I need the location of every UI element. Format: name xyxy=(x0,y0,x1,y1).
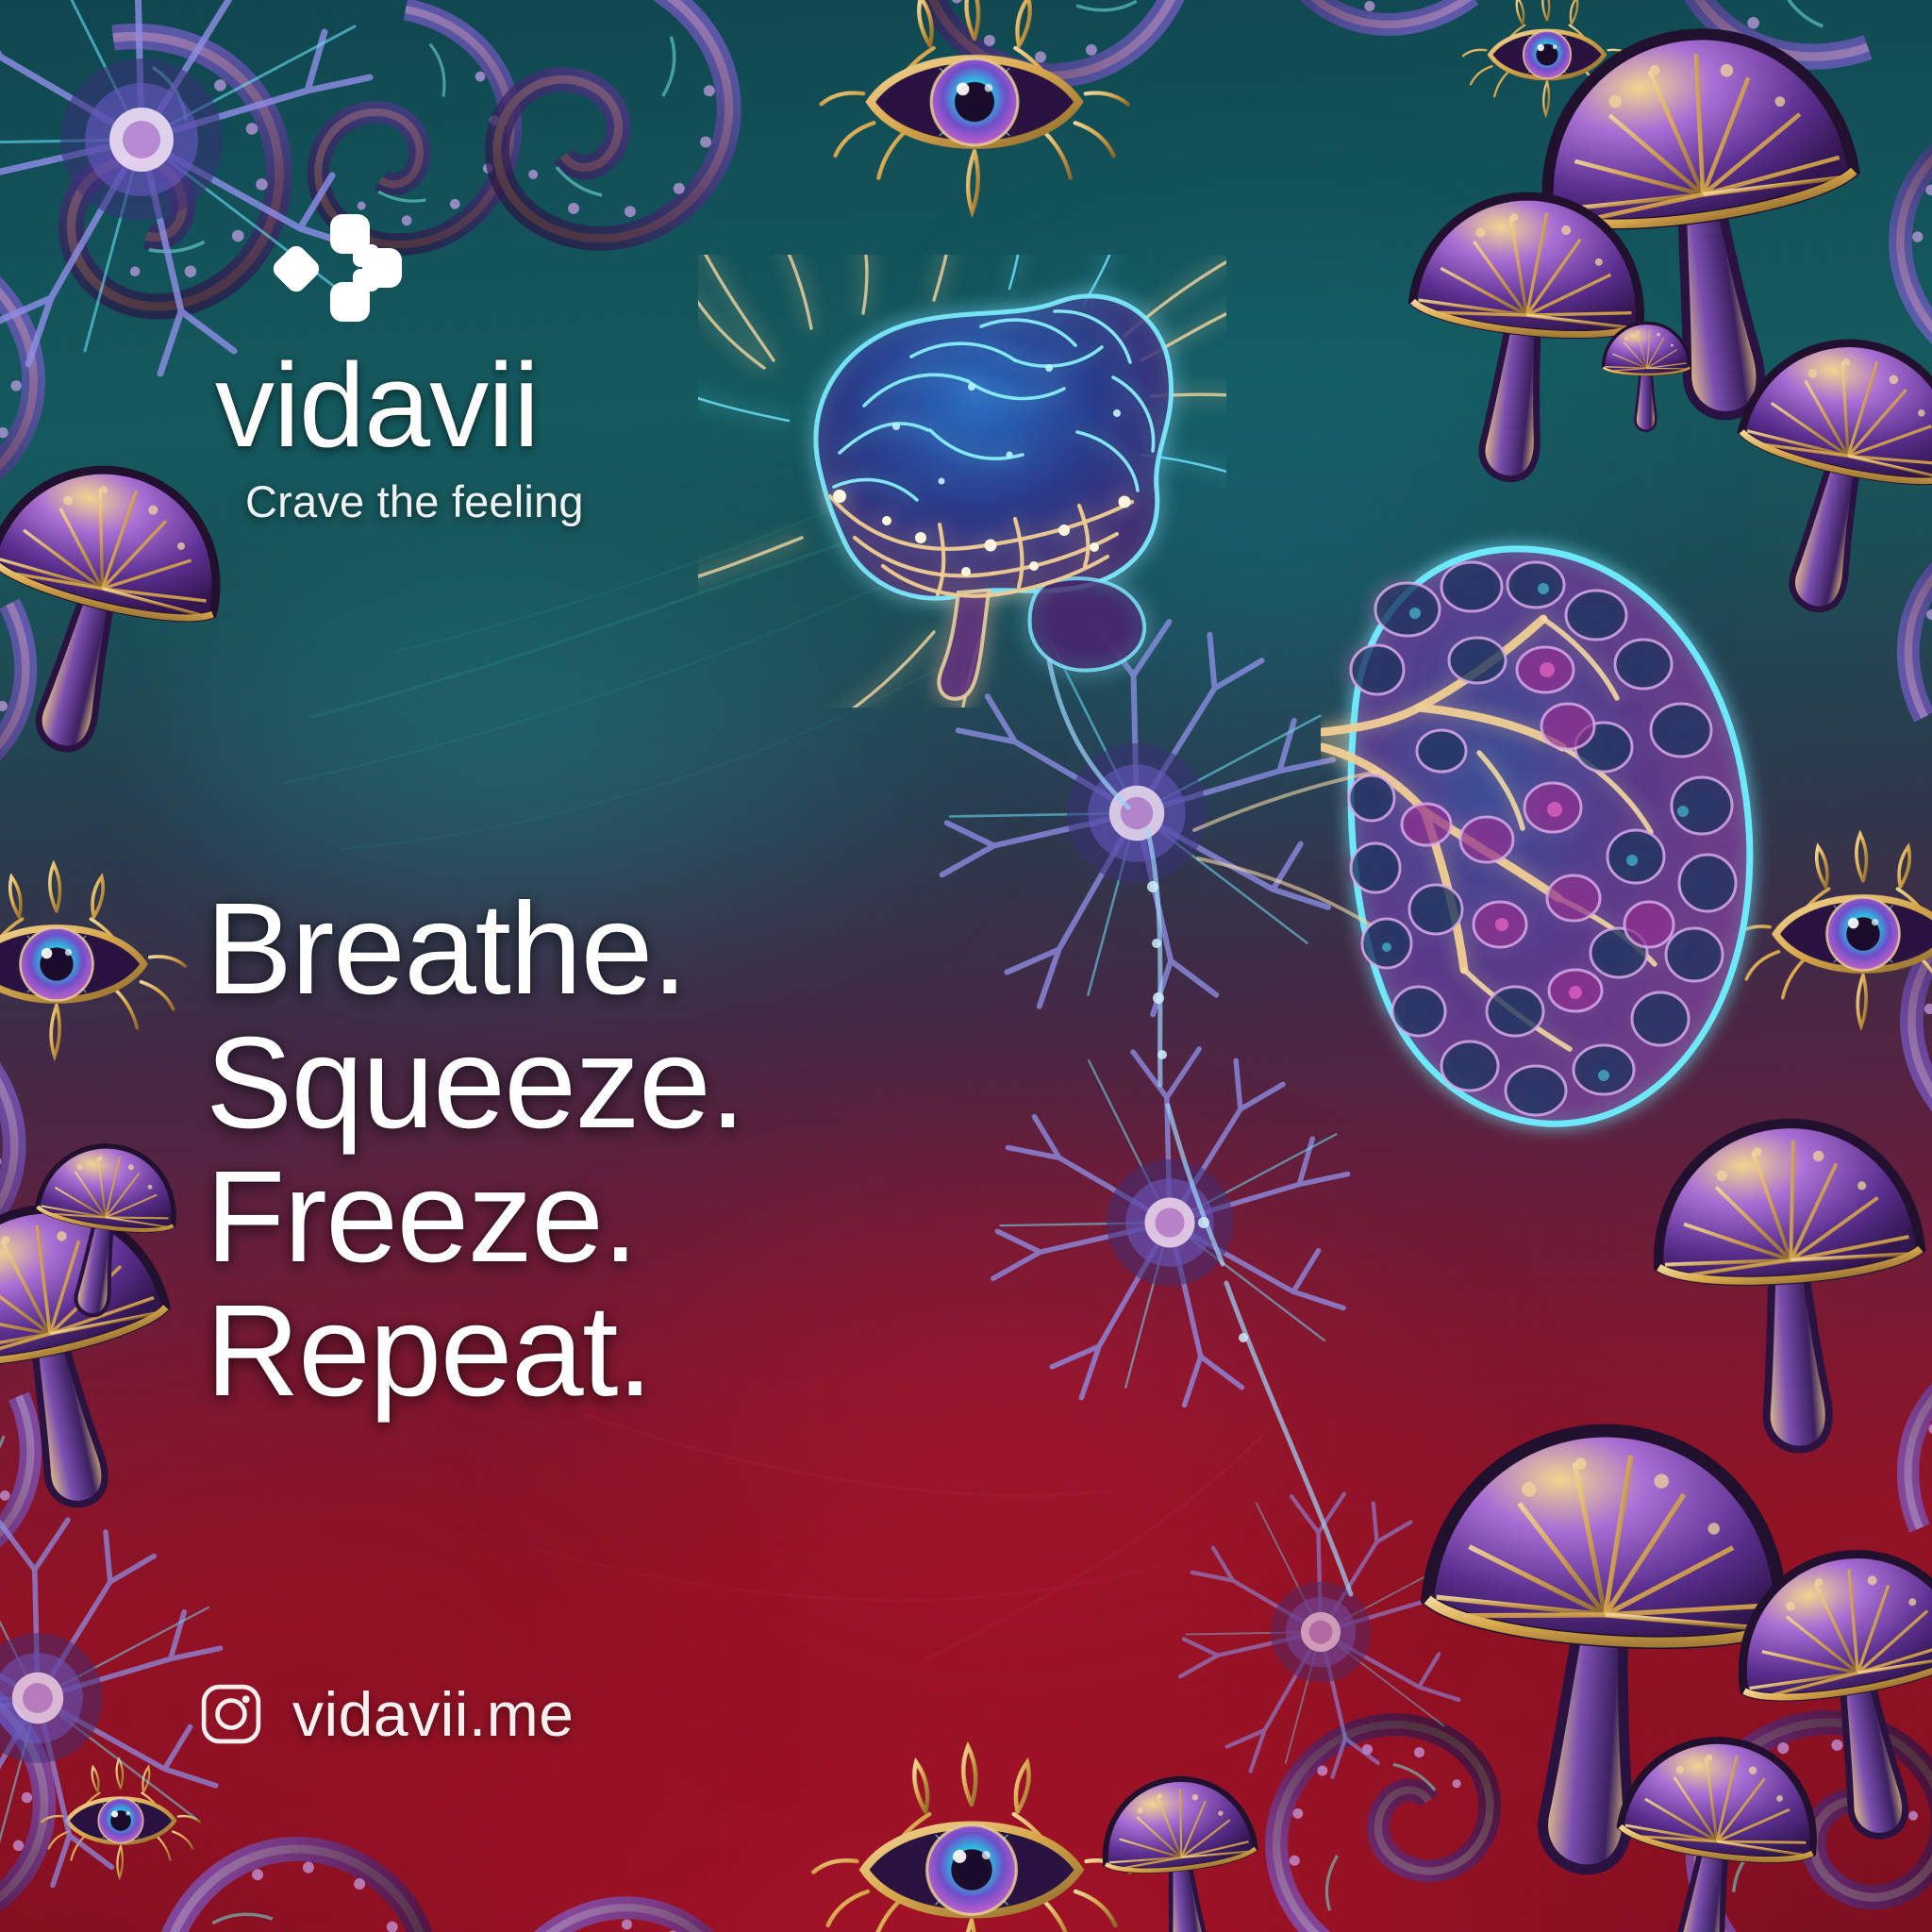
poster-canvas: vidavii Crave the feeling Breathe. Squee… xyxy=(0,0,1932,1932)
headline-line-4: Repeat. xyxy=(206,1284,744,1418)
headline-line-2: Squeeze. xyxy=(206,1016,744,1150)
headline-block: Breathe. Squeeze. Freeze. Repeat. xyxy=(206,882,744,1419)
brand-tagline: Crave the feeling xyxy=(245,475,781,527)
brand-lockup: vidavii Crave the feeling xyxy=(215,212,781,527)
vidavii-logo-mark-icon xyxy=(272,212,406,324)
headline-line-1: Breathe. xyxy=(206,882,744,1016)
headline-line-3: Freeze. xyxy=(206,1150,744,1284)
social-handle-row[interactable]: vidavii.me xyxy=(200,1678,574,1750)
brand-wordmark: vidavii xyxy=(215,349,781,462)
instagram-icon[interactable] xyxy=(200,1683,262,1745)
instagram-handle[interactable]: vidavii.me xyxy=(292,1678,574,1750)
